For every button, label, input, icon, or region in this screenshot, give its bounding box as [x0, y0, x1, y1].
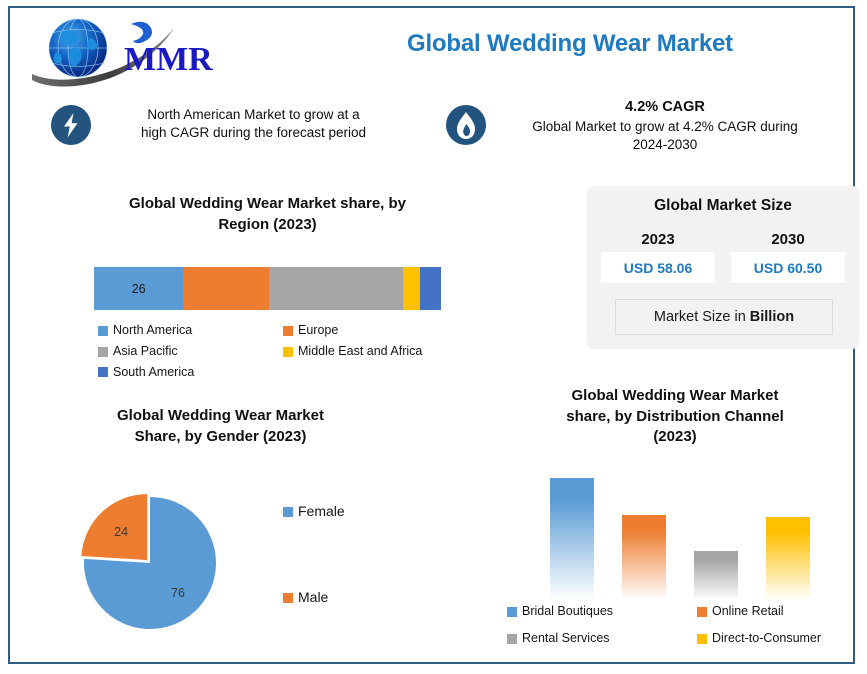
market-size-unit-prefix: Market Size in [654, 309, 746, 325]
legend-label-north-america: North America [113, 324, 192, 338]
market-size-year-2030: 2030 [731, 231, 845, 248]
gender-title-line-1: Global Wedding Wear Market [68, 406, 373, 427]
globe-swoosh-icon: MMR [28, 14, 213, 92]
legend-label-asia-pacific: Asia Pacific [113, 345, 178, 359]
channel-legend: Bridal Boutiques Online Retail Rental Se… [507, 605, 857, 646]
legend-label-direct-to-consumer: Direct-to-Consumer [712, 632, 821, 646]
flame-icon [446, 105, 486, 145]
region-legend: North America Europe Asia Pacific Middle… [98, 324, 443, 379]
highlight-2-heading: 4.2% CAGR [500, 98, 830, 118]
highlight-1-text: North American Market to grow at a high … [106, 106, 401, 142]
gender-chart-title: Global Wedding Wear Market Share, by Gen… [68, 406, 373, 447]
region-segment-south-america[interactable] [420, 267, 441, 310]
market-size-unit: Market Size in Billion [615, 299, 833, 335]
column-bar-rental-services[interactable] [694, 551, 738, 600]
legend-item-north-america[interactable]: North America [98, 324, 283, 338]
highlight-2-line-2: 2024-2030 [500, 136, 830, 154]
legend-swatch-south-america [98, 367, 108, 377]
channel-title-line-3: (2023) [510, 427, 840, 448]
legend-label-bridal-boutiques: Bridal Boutiques [522, 605, 613, 619]
market-size-value-2023: USD 58.06 [601, 252, 715, 283]
legend-swatch-asia-pacific [98, 347, 108, 357]
legend-swatch-direct-to-consumer [697, 634, 707, 644]
region-segment-north-america[interactable]: 26 [94, 267, 183, 310]
channel-chart-title: Global Wedding Wear Market share, by Dis… [510, 386, 840, 448]
legend-swatch-middle-east-africa [283, 347, 293, 357]
channel-title-line-2: share, by Distribution Channel [510, 407, 840, 428]
region-segment-label-north-america: 26 [94, 282, 183, 296]
legend-item-europe[interactable]: Europe [283, 324, 443, 338]
legend-item-online-retail[interactable]: Online Retail [697, 605, 857, 619]
legend-swatch-bridal-boutiques [507, 607, 517, 617]
column-bar-online-retail[interactable] [622, 515, 666, 600]
logo-wordmark: MMR [124, 41, 213, 78]
gender-pie-chart: 76 24 [80, 493, 220, 633]
region-chart-title: Global Wedding Wear Market share, by Reg… [85, 194, 450, 235]
legend-item-female[interactable]: Female [283, 504, 345, 519]
region-segment-asia-pacific[interactable] [269, 267, 403, 310]
region-segment-middle-east-africa[interactable] [403, 267, 420, 310]
channel-title-line-1: Global Wedding Wear Market [510, 386, 840, 407]
legend-label-rental-services: Rental Services [522, 632, 610, 646]
market-size-value-2030: USD 60.50 [731, 252, 845, 283]
highlight-2-text: 4.2% CAGR Global Market to grow at 4.2% … [500, 98, 830, 154]
gender-title-line-2: Share, by Gender (2023) [68, 427, 373, 448]
highlight-1-line-2: high CAGR during the forecast period [106, 124, 401, 142]
market-size-year-2023: 2023 [601, 231, 715, 248]
legend-label-middle-east-africa: Middle East and Africa [298, 345, 422, 359]
legend-swatch-europe [283, 326, 293, 336]
highlight-2-line-1: Global Market to grow at 4.2% CAGR durin… [500, 118, 830, 136]
legend-item-asia-pacific[interactable]: Asia Pacific [98, 345, 283, 359]
legend-item-south-america[interactable]: South America [98, 366, 283, 380]
legend-swatch-female [283, 507, 293, 517]
market-size-unit-value: Billion [750, 309, 794, 325]
region-stacked-bar: 26 [94, 267, 441, 310]
column-bar-bridal-boutiques[interactable] [550, 478, 594, 600]
legend-label-male: Male [298, 590, 328, 605]
pie-label-male: 24 [114, 525, 128, 539]
legend-item-direct-to-consumer[interactable]: Direct-to-Consumer [697, 632, 857, 646]
region-title-line-1: Global Wedding Wear Market share, by [85, 194, 450, 215]
legend-swatch-male [283, 593, 293, 603]
infographic-canvas: MMR Global Wedding Wear Market North Ame… [8, 6, 855, 664]
region-title-line-2: Region (2023) [85, 215, 450, 236]
legend-item-male[interactable]: Male [283, 590, 328, 605]
mmr-logo: MMR [28, 14, 213, 92]
legend-item-bridal-boutiques[interactable]: Bridal Boutiques [507, 605, 697, 619]
market-size-title: Global Market Size [587, 197, 859, 215]
legend-label-female: Female [298, 504, 345, 519]
market-size-panel: Global Market Size 2023 USD 58.06 2030 U… [587, 186, 859, 349]
legend-label-south-america: South America [113, 366, 194, 380]
region-segment-europe[interactable] [183, 267, 269, 310]
legend-swatch-rental-services [507, 634, 517, 644]
pie-label-female: 76 [171, 586, 185, 600]
highlight-1-line-1: North American Market to grow at a [106, 106, 401, 124]
legend-swatch-online-retail [697, 607, 707, 617]
column-bar-direct-to-consumer[interactable] [766, 517, 810, 600]
legend-swatch-north-america [98, 326, 108, 336]
channel-column-chart [540, 478, 810, 600]
legend-label-europe: Europe [298, 324, 338, 338]
page-title: Global Wedding Wear Market [310, 30, 830, 58]
legend-item-middle-east-africa[interactable]: Middle East and Africa [283, 345, 443, 359]
legend-item-rental-services[interactable]: Rental Services [507, 632, 697, 646]
lightning-bolt-icon [51, 105, 91, 145]
legend-label-online-retail: Online Retail [712, 605, 784, 619]
